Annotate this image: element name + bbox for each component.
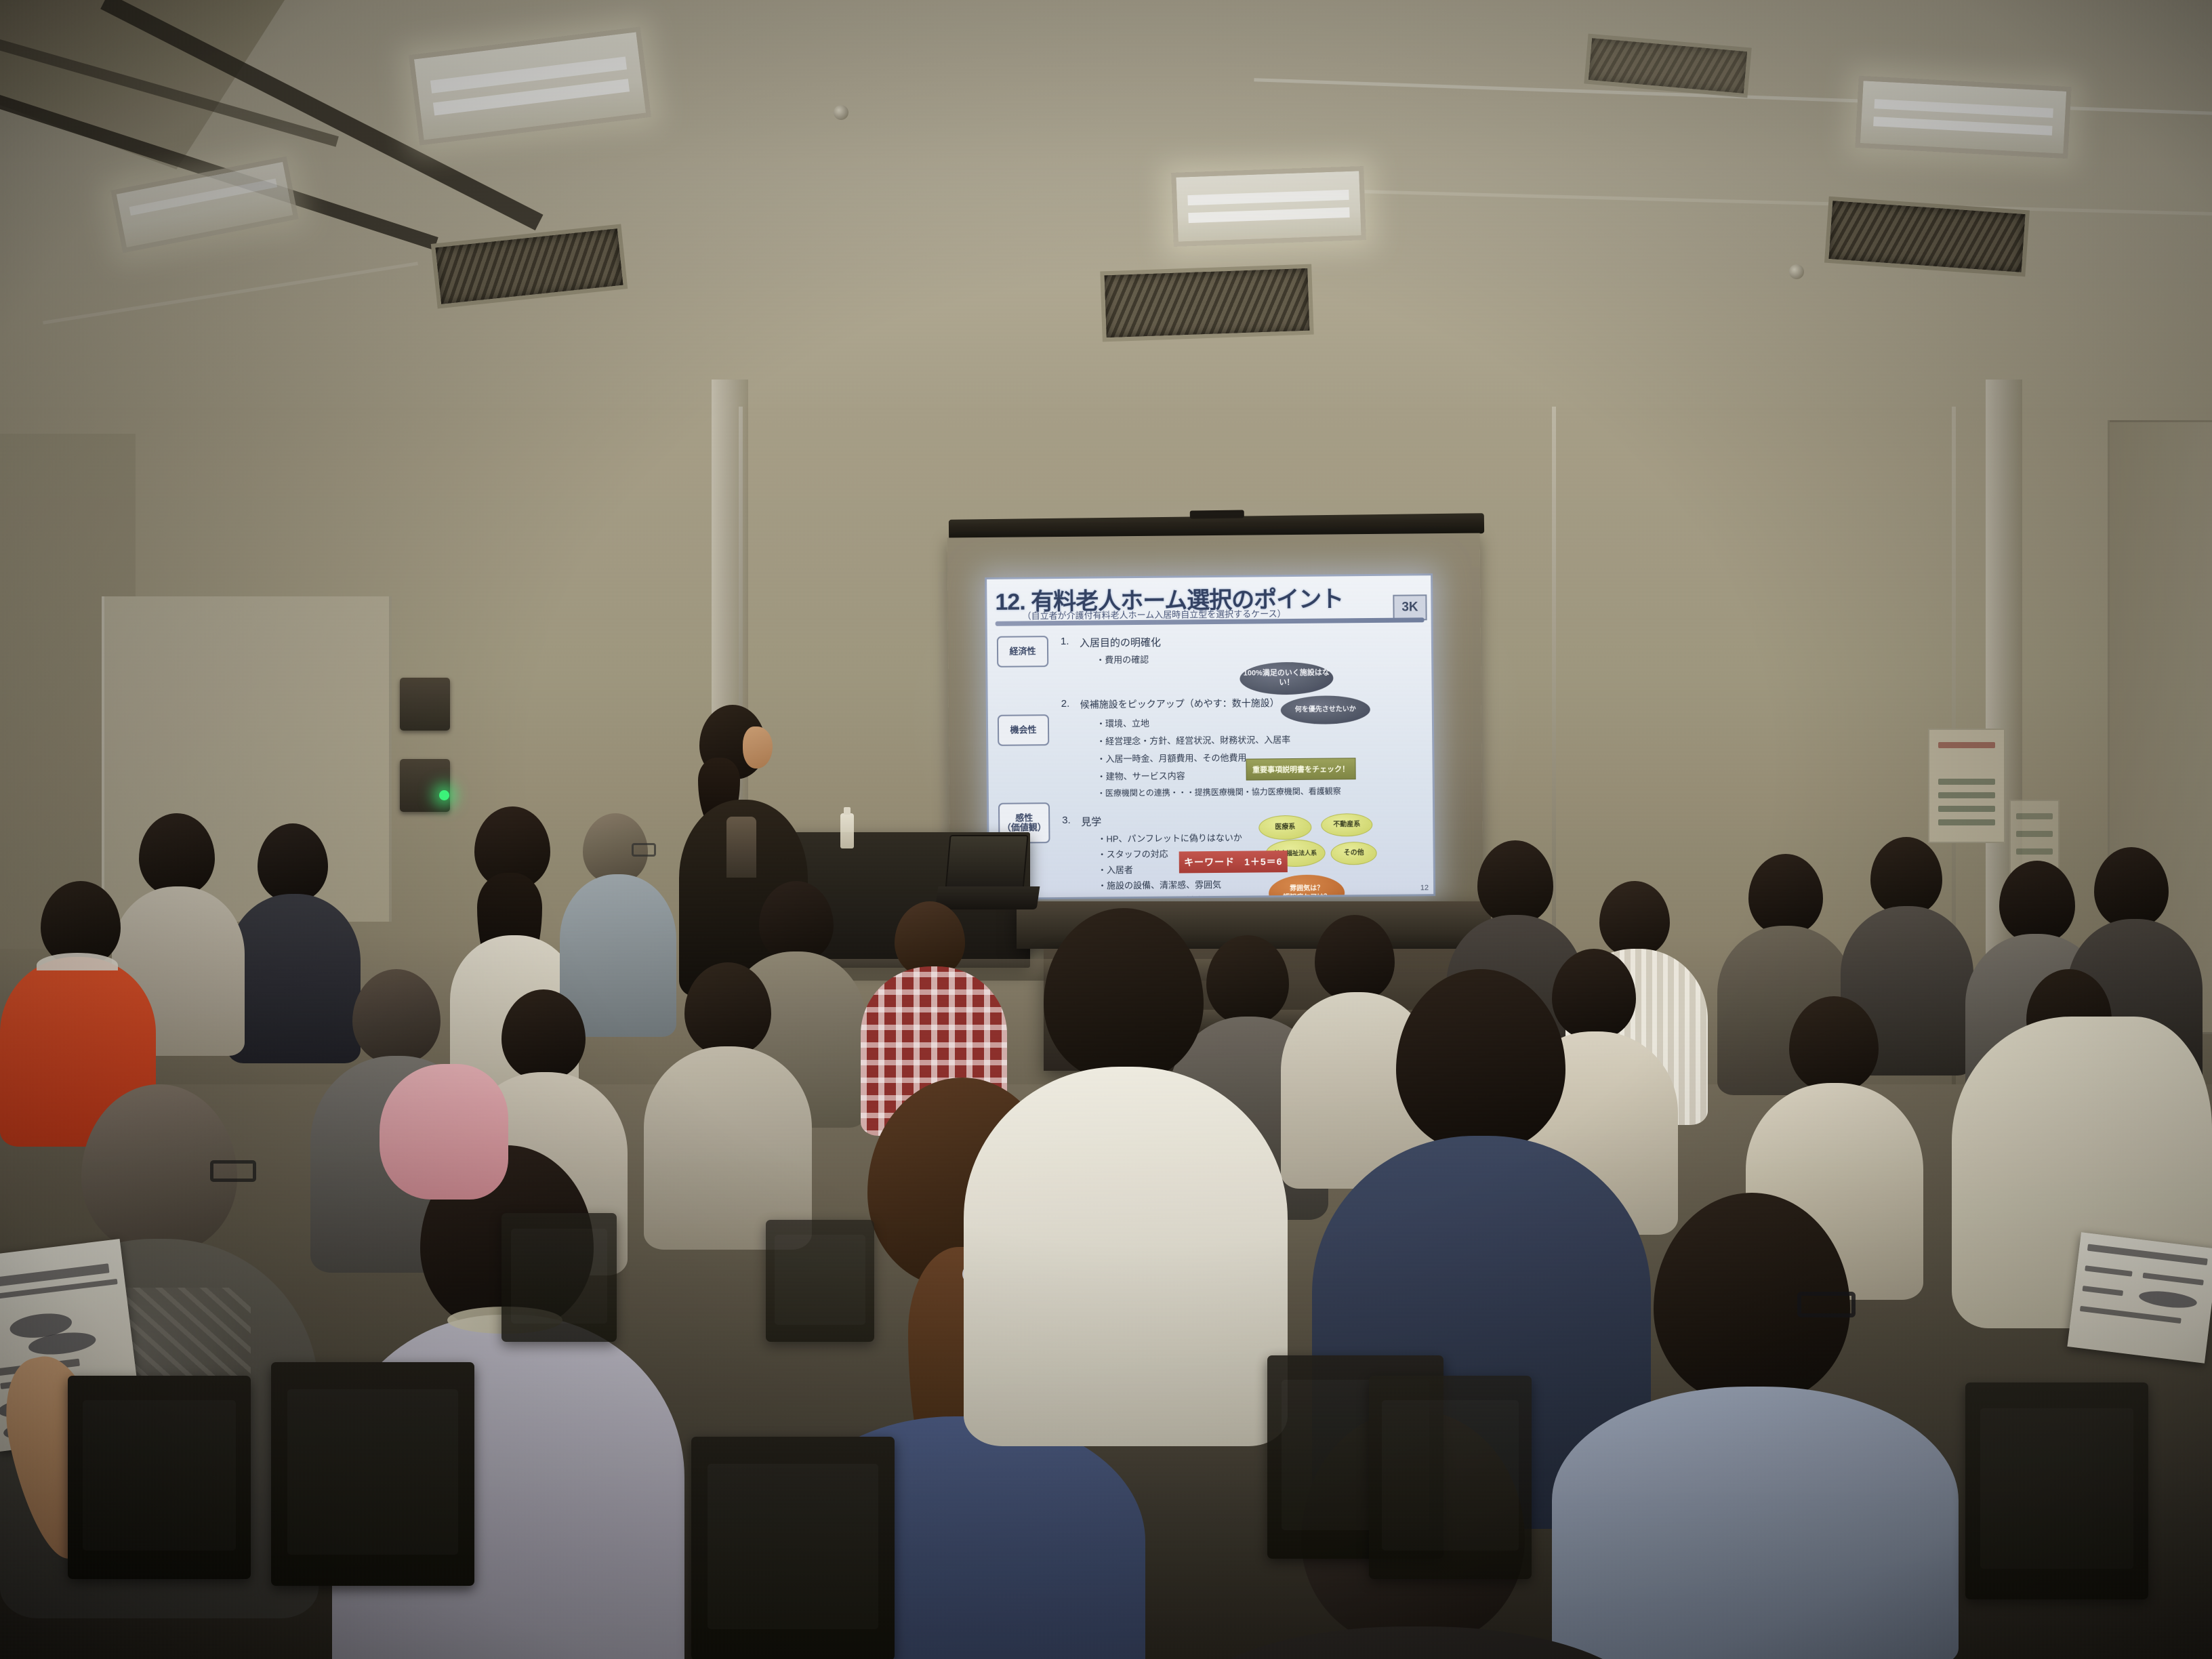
chair[interactable] bbox=[1369, 1376, 1532, 1579]
slide-section-number: 1. bbox=[1061, 636, 1069, 647]
slide-section-heading: 候補施設をピックアップ（めやす：数十施設） bbox=[1080, 696, 1279, 712]
power-led-icon bbox=[439, 790, 449, 800]
keyword-label: キーワード bbox=[1184, 855, 1235, 869]
slide-bullet: ・環境、立地 bbox=[1097, 716, 1149, 730]
slide-badge: 3K bbox=[1393, 594, 1427, 620]
slide-section-number: 2. bbox=[1061, 698, 1070, 710]
slide-section-heading: 見学 bbox=[1081, 814, 1101, 828]
slide-bullet: ・費用の確認 bbox=[1096, 653, 1149, 666]
slide-bullet: ・経営理念・方針、経営状況、財務状況、入居率 bbox=[1097, 733, 1290, 747]
handout-paper[interactable] bbox=[2067, 1232, 2212, 1364]
callout-yellow-oval: その他 bbox=[1331, 842, 1377, 865]
light-tube bbox=[129, 179, 277, 216]
chair[interactable] bbox=[766, 1220, 874, 1342]
chair[interactable] bbox=[691, 1437, 895, 1659]
ceiling-light-panel bbox=[1171, 166, 1366, 247]
slide-bullet: ・建物、サービス内容 bbox=[1097, 769, 1185, 782]
chair[interactable] bbox=[501, 1213, 617, 1342]
water-bottle bbox=[840, 813, 854, 848]
slide-page-number: 12 bbox=[1420, 884, 1429, 892]
axis-tag-opportunity: 機会性 bbox=[998, 714, 1049, 746]
light-tube bbox=[1188, 207, 1349, 223]
chair[interactable] bbox=[68, 1376, 251, 1579]
callout-keyword-box: キーワード 1＋5＝6 bbox=[1179, 851, 1288, 873]
callout-dark-oval: 100%満足のいく施設はない！ bbox=[1240, 661, 1333, 695]
light-tube bbox=[1873, 117, 2052, 136]
wall-control-panel[interactable] bbox=[400, 759, 450, 812]
slide-bullet: ・HP、パンフレットに偽りはないか bbox=[1097, 831, 1242, 845]
presenter-blouse bbox=[726, 817, 756, 878]
presenter-face bbox=[743, 726, 773, 769]
callout-dark-oval: 何を優先させたいか bbox=[1281, 695, 1370, 724]
slide-bullet: ・入居一時金、月額費用、その他費用 bbox=[1097, 751, 1246, 765]
eyeglasses-icon bbox=[632, 843, 656, 857]
sprinkler-head bbox=[1789, 264, 1804, 279]
presenter-laptop-base[interactable] bbox=[935, 886, 1040, 909]
air-vent bbox=[1824, 197, 2030, 276]
chair[interactable] bbox=[1965, 1382, 2148, 1599]
eyeglasses-icon bbox=[1797, 1292, 1856, 1317]
slide-bullet: ・できれば、ランチの試食 bbox=[1098, 893, 1204, 898]
callout-yellow-oval: 不動産系 bbox=[1321, 813, 1372, 837]
light-tube bbox=[1874, 99, 2053, 119]
slide-bullet: ・スタッフの対応 bbox=[1098, 847, 1168, 861]
wall-control-panel[interactable] bbox=[400, 678, 450, 731]
keyword-formula: 1＋5＝6 bbox=[1244, 855, 1283, 868]
seminar-room-photo: 12. 有料老人ホーム選択のポイント 3K （自立者が介護付有料老人ホーム入居時… bbox=[0, 0, 2212, 1659]
chair[interactable] bbox=[271, 1362, 474, 1586]
callout-yellow-oval: 医療系 bbox=[1258, 815, 1311, 840]
projected-slide: 12. 有料老人ホーム選択のポイント 3K （自立者が介護付有料老人ホーム入居時… bbox=[987, 575, 1433, 898]
presenter-laptop-lid[interactable] bbox=[945, 835, 1028, 890]
light-tube bbox=[1188, 189, 1349, 205]
callout-orange-bubble: 雰囲気は？ 認知症ケアは？ bbox=[1269, 874, 1345, 898]
slide-bullet: ・施設の設備、清潔感、雰囲気 bbox=[1098, 878, 1221, 892]
wall-notice bbox=[1928, 729, 2005, 843]
slide-section-heading: 入居目的の明確化 bbox=[1080, 635, 1161, 650]
slide-bullet: ・入居者 bbox=[1098, 863, 1133, 876]
slide-bullet: ・医療機関との連携・・・提携医療機関・協力医療機関、看護観察 bbox=[1097, 785, 1341, 798]
callout-olive-box: 重要事項説明書をチェック！ bbox=[1246, 758, 1355, 780]
air-vent bbox=[1100, 264, 1313, 342]
ceiling-light-panel bbox=[1855, 76, 2071, 159]
axis-tag-economy: 経済性 bbox=[997, 636, 1048, 668]
slide-section-number: 3. bbox=[1062, 815, 1071, 826]
eyeglasses-icon bbox=[210, 1160, 256, 1182]
sprinkler-head bbox=[834, 105, 848, 120]
